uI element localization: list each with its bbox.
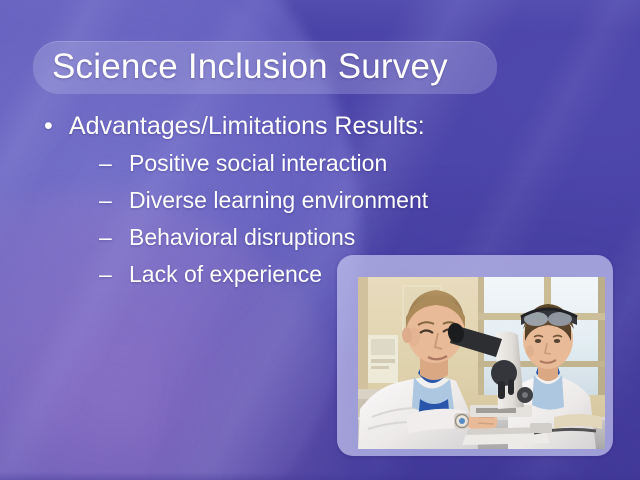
slide-bottom-band: [0, 472, 640, 480]
bullet-level2-text: Lack of experience: [129, 261, 322, 287]
bullet-level2-text: Diverse learning environment: [129, 187, 428, 213]
bullet-dash-icon: –: [99, 182, 112, 219]
bullet-level1-text: Advantages/Limitations Results:: [69, 112, 425, 140]
bullet-level2-text: Behavioral disruptions: [129, 224, 355, 250]
background-top-band: [0, 0, 640, 32]
bullet-level2-text: Positive social interaction: [129, 150, 387, 176]
bullet-dash-icon: –: [99, 145, 112, 182]
bullet-level2: – Behavioral disruptions: [99, 219, 520, 256]
bullet-dash-icon: –: [99, 219, 112, 256]
page-title: Science Inclusion Survey: [52, 40, 512, 94]
slide-canvas: Science Inclusion Survey • Advantages/Li…: [0, 0, 640, 480]
bullet-level2: – Positive social interaction: [99, 145, 520, 182]
classroom-microscope-photo: [358, 277, 605, 449]
photo-illustration: [358, 277, 605, 449]
bullet-dash-icon: –: [99, 256, 112, 293]
bullet-level2: – Diverse learning environment: [99, 182, 520, 219]
bullet-dot-icon: •: [44, 108, 53, 145]
